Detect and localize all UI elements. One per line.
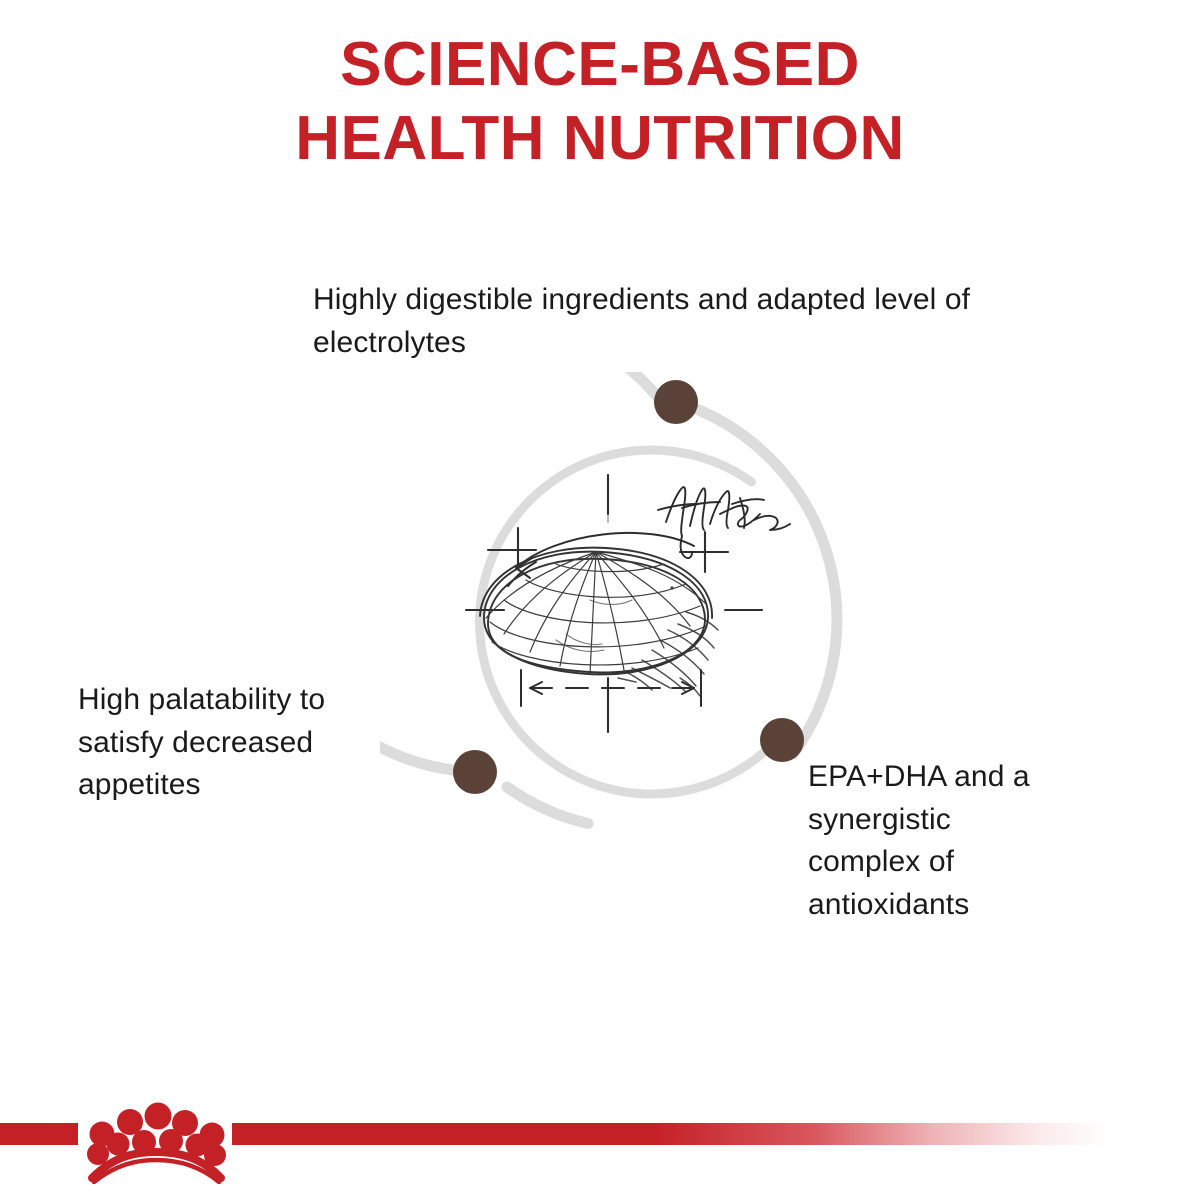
bullet-dot-left	[453, 750, 497, 794]
brand-rule-right	[232, 1123, 1110, 1145]
handwritten-signature-annotation	[658, 487, 790, 558]
page-title: SCIENCE-BASED HEALTH NUTRITION	[0, 28, 1200, 177]
brand-rule-left	[0, 1123, 78, 1145]
crown-base-arc	[92, 1152, 221, 1182]
callout-label-high-palatability: High palatability to satisfy decreased a…	[78, 679, 408, 807]
science-based-health-nutrition-infographic: SCIENCE-BASED HEALTH NUTRITION Highly di…	[0, 0, 1200, 1199]
crown-dots	[87, 1103, 226, 1167]
page-title-line-2: HEALTH NUTRITION	[0, 102, 1200, 176]
bullet-dot-top	[654, 380, 698, 424]
dimension-line	[521, 670, 701, 706]
kibble-shading	[618, 612, 718, 696]
kibble-latitudes	[490, 564, 706, 665]
footer-brand-bar	[0, 1090, 1200, 1199]
page-title-line-1: SCIENCE-BASED	[0, 28, 1200, 102]
bullet-dot-right	[760, 718, 804, 762]
kibble-technical-sketch-diagram	[380, 372, 892, 884]
callout-label-digestible-ingredients: Highly digestible ingredients and adapte…	[313, 279, 1013, 364]
royal-canin-crown-logo	[78, 1096, 234, 1184]
